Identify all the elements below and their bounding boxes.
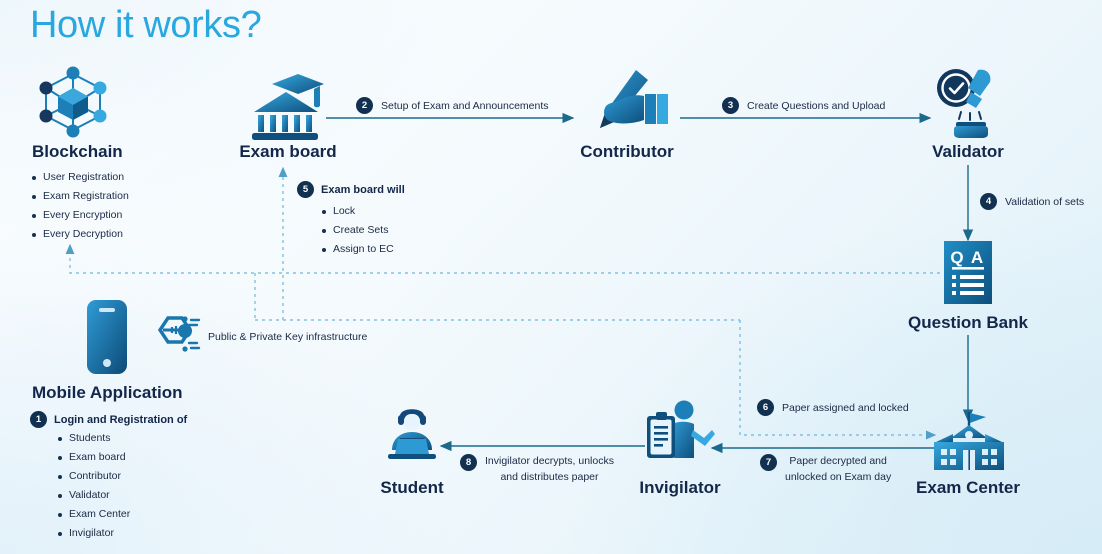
exam-board-icon: [248, 68, 328, 147]
validator-stamp-icon: [930, 66, 1006, 147]
mobile-step-list: Students Exam board Contributor Validato…: [56, 429, 130, 543]
list-item: Invigilator: [56, 524, 130, 543]
contributor-label: Contributor: [566, 142, 688, 162]
step-1-badge: 1: [30, 411, 47, 428]
svg-text:A: A: [971, 248, 983, 267]
step-7-label-line1: Paper decrypted and: [785, 453, 891, 469]
step-3-label: Create Questions and Upload: [747, 98, 885, 114]
list-item: Create Sets: [320, 221, 394, 240]
step-2: 2 Setup of Exam and Announcements: [356, 97, 549, 114]
step-4: 4 Validation of sets: [980, 193, 1084, 210]
step-8-badge: 8: [460, 454, 477, 471]
svg-text:Q: Q: [950, 248, 963, 267]
step-2-label: Setup of Exam and Announcements: [381, 98, 549, 114]
list-item: Exam board: [56, 448, 130, 467]
step-6-label: Paper assigned and locked: [782, 400, 909, 416]
list-item: Every Encryption: [30, 206, 129, 225]
pki-label: Public & Private Key infrastructure: [208, 331, 367, 343]
blockchain-icon: [36, 62, 110, 145]
step-6-badge: 6: [757, 399, 774, 416]
step-1: 1 Login and Registration of: [30, 411, 187, 428]
validator-label: Validator: [908, 142, 1028, 162]
blockchain-list: User Registration Exam Registration Ever…: [30, 168, 129, 244]
question-bank-label: Question Bank: [898, 313, 1038, 333]
step-3-badge: 3: [722, 97, 739, 114]
invigilator-icon: [644, 400, 716, 467]
step-4-label: Validation of sets: [1005, 194, 1084, 210]
step-8-label-line2: and distributes paper: [485, 469, 614, 485]
list-item: Lock: [320, 202, 394, 221]
exam-board-step-list: Lock Create Sets Assign to EC: [320, 202, 394, 259]
step-5: 5 Exam board will: [297, 181, 405, 198]
step-2-badge: 2: [356, 97, 373, 114]
step-7-badge: 7: [760, 454, 777, 471]
question-bank-icon: Q A: [944, 241, 992, 309]
list-item: Exam Center: [56, 505, 130, 524]
step-3: 3 Create Questions and Upload: [722, 97, 885, 114]
blockchain-label: Blockchain: [32, 142, 123, 162]
list-item: Contributor: [56, 467, 130, 486]
step-8: 8 Invigilator decrypts, unlocks and dist…: [460, 453, 614, 485]
how-it-works-diagram: How it works? Blockchain User Registrati…: [0, 0, 1102, 554]
student-label: Student: [360, 478, 464, 498]
list-item: Every Decryption: [30, 225, 129, 244]
student-icon: [382, 402, 442, 465]
step-5-title: Exam board will: [321, 184, 405, 196]
list-item: Students: [56, 429, 130, 448]
list-item: Validator: [56, 486, 130, 505]
list-item: User Registration: [30, 168, 129, 187]
mobile-application-label: Mobile Application: [32, 383, 182, 403]
list-item: Exam Registration: [30, 187, 129, 206]
exam-board-label: Exam board: [228, 142, 348, 162]
step-7: 7 Paper decrypted and unlocked on Exam d…: [760, 453, 891, 485]
step-1-title: Login and Registration of: [54, 414, 187, 426]
step-4-badge: 4: [980, 193, 997, 210]
step-6: 6 Paper assigned and locked: [757, 399, 909, 416]
exam-center-icon: [932, 412, 1006, 479]
list-item: Assign to EC: [320, 240, 394, 259]
contributor-icon: [592, 68, 672, 145]
step-5-badge: 5: [297, 181, 314, 198]
exam-center-label: Exam Center: [898, 478, 1038, 498]
invigilator-label: Invigilator: [620, 478, 740, 498]
mobile-phone-icon: [86, 299, 128, 380]
step-7-label-line2: unlocked on Exam day: [785, 469, 891, 485]
key-infrastructure-icon: [152, 314, 202, 367]
page-title: How it works?: [30, 4, 261, 47]
step-8-label-line1: Invigilator decrypts, unlocks: [485, 453, 614, 469]
